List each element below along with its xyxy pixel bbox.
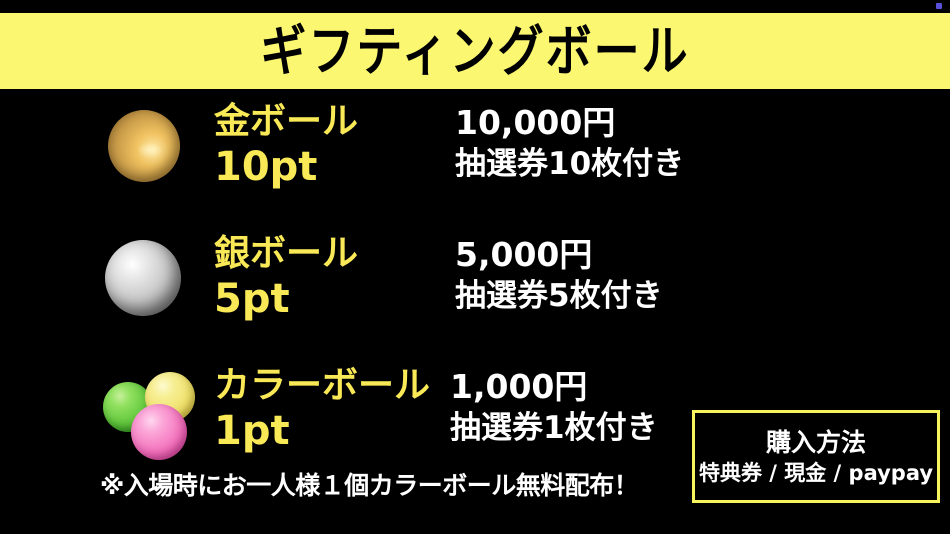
ball-points-color: 1pt	[214, 408, 464, 454]
label-column-gold: 金ボール 10pt	[214, 100, 464, 190]
ball-points-gold: 10pt	[214, 144, 464, 190]
price-column-gold: 10,000円 抽選券10枚付き	[455, 102, 755, 184]
ball-name-silver: 銀ボール	[214, 232, 464, 276]
ball-bonus-silver: 抽選券5枚付き	[455, 276, 755, 316]
free-ball-footnote: ※入場時にお一人様１個カラーボール無料配布！	[100, 470, 638, 502]
ball-name-gold: 金ボール	[214, 100, 464, 144]
slide-root: ギフティングボール 金ボール 10pt 10,000円 抽選券10枚付き 銀ボー…	[0, 0, 950, 534]
page-title: ギフティングボール	[260, 24, 689, 78]
purchase-method-list: 特典券 / 現金 / paypay	[699, 459, 933, 487]
ball-price-color: 1,000円	[450, 366, 750, 408]
gold-ball-icon	[108, 110, 180, 182]
ball-slot-silver	[95, 232, 205, 332]
ball-slot-gold	[95, 100, 205, 200]
ball-row-gold: 金ボール 10pt 10,000円 抽選券10枚付き	[0, 100, 950, 200]
top-black-strip	[0, 0, 950, 13]
price-column-silver: 5,000円 抽選券5枚付き	[455, 234, 755, 316]
label-column-silver: 銀ボール 5pt	[214, 232, 464, 322]
title-banner: ギフティングボール	[0, 13, 950, 89]
ball-price-gold: 10,000円	[455, 102, 755, 144]
purchase-method-box: 購入方法 特典券 / 現金 / paypay	[692, 410, 940, 503]
pink-ball-icon	[131, 404, 187, 460]
purchase-method-title: 購入方法	[766, 427, 866, 459]
silver-ball-icon	[105, 240, 181, 316]
ball-bonus-gold: 抽選券10枚付き	[455, 144, 755, 184]
ball-slot-color	[95, 364, 205, 464]
ball-points-silver: 5pt	[214, 276, 464, 322]
ball-price-silver: 5,000円	[455, 234, 755, 276]
label-column-color: カラーボール 1pt	[214, 364, 464, 454]
ball-row-silver: 銀ボール 5pt 5,000円 抽選券5枚付き	[0, 232, 950, 332]
ball-name-color: カラーボール	[214, 364, 464, 408]
stray-pixel-dot	[936, 3, 942, 9]
